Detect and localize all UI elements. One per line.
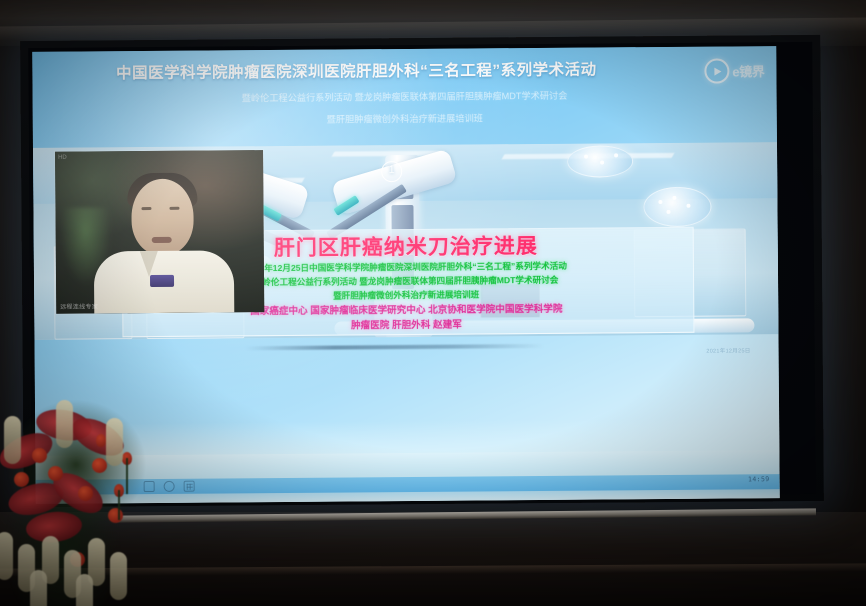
conference-room-photo: 中国医学科学院肿瘤医院深圳医院肝胆外科“三名工程”系列学术活动 暨岭伦工程公益行… bbox=[0, 0, 866, 606]
flower-stem bbox=[126, 458, 128, 494]
speaker-video-tile[interactable]: HD 远程连线专家 bbox=[55, 150, 264, 314]
play-circle-icon bbox=[704, 58, 729, 83]
speaker-eye-left bbox=[141, 207, 151, 210]
video-name-caption: 远程连线专家 bbox=[60, 301, 98, 310]
cream-flower-spike bbox=[0, 532, 13, 580]
cream-flower-spike bbox=[56, 400, 73, 448]
rose-flower bbox=[92, 458, 107, 473]
cream-flower-spike bbox=[110, 552, 127, 600]
rose-flower bbox=[48, 466, 63, 481]
flower-stem bbox=[118, 490, 120, 520]
brand-logo: e镜界 bbox=[704, 58, 764, 83]
speaker-face bbox=[131, 179, 194, 255]
meeting-clock: 14:59 bbox=[748, 475, 770, 483]
rose-flower bbox=[14, 472, 29, 487]
cream-flower-spike bbox=[106, 418, 123, 466]
record-icon[interactable] bbox=[164, 481, 175, 492]
flower-bud bbox=[96, 434, 106, 447]
speaker-mouth bbox=[152, 237, 172, 243]
flower-arrangement bbox=[0, 392, 160, 606]
cream-flower-spike bbox=[4, 416, 21, 464]
slide-subtitle-line-2: 暨肝胆肿瘤微创外科治疗新进展培训班 bbox=[33, 109, 777, 130]
rose-flower bbox=[78, 486, 93, 501]
speaker-eye-right bbox=[169, 207, 179, 210]
cream-flower-spike bbox=[76, 574, 93, 606]
rose-flower bbox=[108, 508, 123, 523]
cream-flower-spike bbox=[30, 570, 47, 606]
robot-arm-badge-1: 1 bbox=[381, 161, 402, 182]
slide-subtitle-line-1: 暨岭伦工程公益行系列活动 暨龙岗肿瘤医联体第四届肝胆胰肿瘤MDT学术研讨会 bbox=[33, 87, 777, 108]
brand-logo-text: e镜界 bbox=[732, 61, 764, 80]
speaker-collar bbox=[140, 251, 158, 277]
video-quality-badge: HD bbox=[58, 155, 67, 161]
rose-flower bbox=[32, 448, 47, 463]
grid-view-icon[interactable] bbox=[184, 481, 195, 492]
slide-header: 中国医学科学院肿瘤医院深圳医院肝胆外科“三名工程”系列学术活动 暨岭伦工程公益行… bbox=[32, 60, 776, 130]
speaker-tie bbox=[150, 275, 174, 287]
slide-footnote: 2021年12月25日 bbox=[706, 346, 750, 354]
